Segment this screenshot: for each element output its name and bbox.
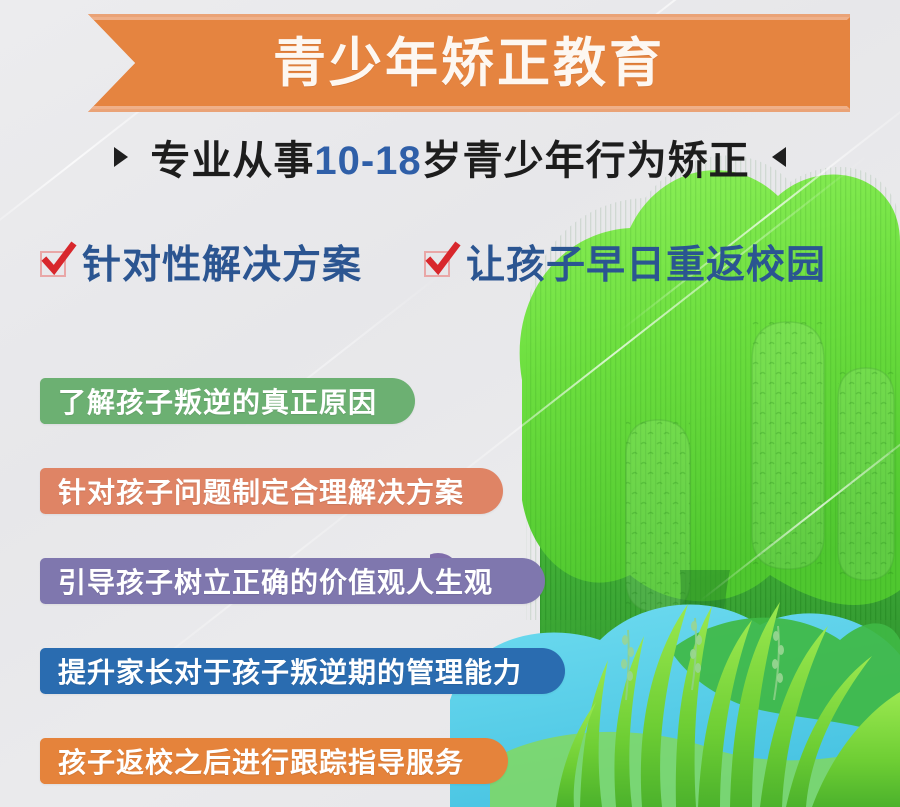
- feature-list: 了解孩子叛逆的真正原因 针对孩子问题制定合理解决方案 引导孩子树立正确的价值观人…: [0, 0, 900, 807]
- poster-root: 青少年矫正教育 专业从事10-18岁青少年行为矫正 针对性解决方案: [0, 0, 900, 807]
- feature-pill-2: 针对孩子问题制定合理解决方案: [40, 468, 503, 514]
- feature-label-1: 了解孩子叛逆的真正原因: [58, 381, 377, 421]
- feature-pill-1: 了解孩子叛逆的真正原因: [40, 378, 415, 424]
- feature-label-2: 针对孩子问题制定合理解决方案: [58, 471, 464, 511]
- feature-pill-5: 孩子返校之后进行跟踪指导服务: [40, 738, 508, 784]
- feature-pill-4: 提升家长对于孩子叛逆期的管理能力: [40, 648, 565, 694]
- feature-label-4: 提升家长对于孩子叛逆期的管理能力: [58, 651, 522, 691]
- feature-label-3: 引导孩子树立正确的价值观人生观: [58, 561, 493, 601]
- feature-label-5: 孩子返校之后进行跟踪指导服务: [58, 741, 464, 781]
- feature-pill-3: 引导孩子树立正确的价值观人生观: [40, 558, 545, 604]
